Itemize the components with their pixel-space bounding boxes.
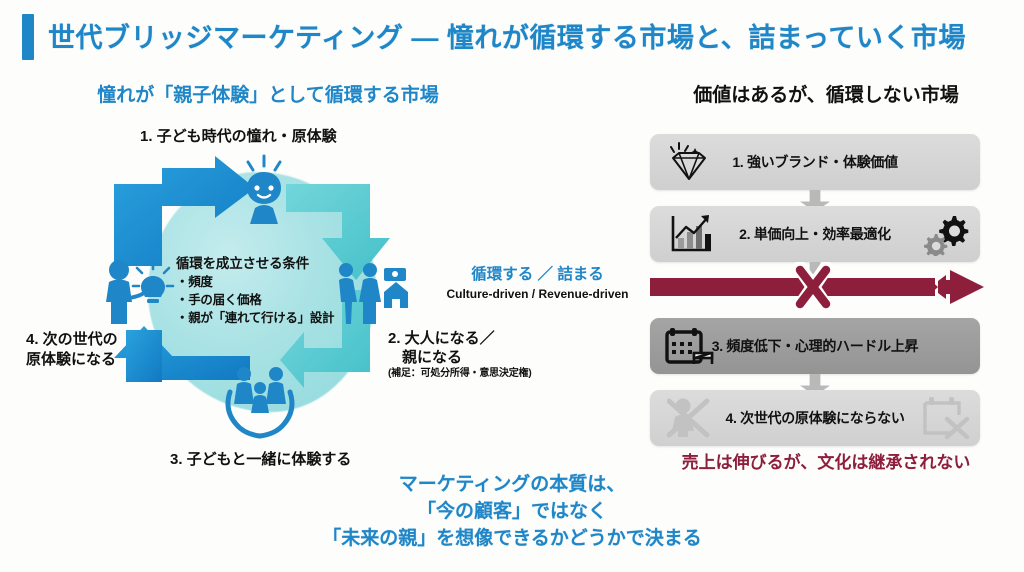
right-step-box-3[interactable]: 3. 頻度低下・心理的ハードル上昇 [650,318,980,374]
right-step-box-1[interactable]: 1. 強いブランド・体験価値 [650,134,980,190]
cycle-step-label-3: 3. 子どもと一緒に体験する [170,448,351,469]
right-step-box-4[interactable]: 4. 次世代の原体験にならない [650,390,980,446]
bottom-message-line-2: 「今の顧客」ではなく [212,499,812,526]
person-lightbulb-icon [106,260,173,324]
comparison-label-jp: 循環する ／ 詰まる [425,262,650,284]
cycle-break-bar [650,262,990,312]
right-step-box-2[interactable]: 2. 単価向上・効率最適化 [650,206,980,262]
cycle-step-label-2: 2. 大人になる／ 親になる (補足：可処分所得・意思決定権) [388,330,531,380]
right-step-label-1: 1. 強いブランド・体験価値 [650,152,980,172]
bottom-message: マーケティングの本質は、 「今の顧客」ではなく 「未来の親」を想像できるかどうか… [212,472,812,553]
cycle-step-label-4-line1: 4. 次の世代の [26,330,118,350]
bottom-message-line-1: マーケティングの本質は、 [212,472,812,499]
slide-canvas: 世代ブリッジマーケティング ― 憧れが循環する市場と、詰まっていく市場 憧れが「… [0,0,1024,572]
conditions-item: 親が「連れて行ける」設計 [176,310,356,328]
cycle-step-label-4-line2: 原体験になる [26,350,118,370]
cycle-step-label-1: 1. 子ども時代の憧れ・原体験 [140,125,337,146]
child-idea-icon [247,156,281,224]
bottom-message-line-3: 「未来の親」を想像できるかどうかで決まる [212,526,812,553]
conditions-item: 頻度 [176,274,356,292]
conditions-title: 循環を成立させる条件 [176,252,356,272]
title-accent-bar [22,14,34,60]
left-section-heading: 憧れが「親子体験」として循環する市場 [88,80,448,107]
comparison-label-en: Culture-driven / Revenue-driven [425,287,650,301]
right-conclusion: 売上は伸びるが、文化は継承されない [648,448,1004,473]
right-section-heading: 価値はあるが、循環しない市場 [648,80,1004,107]
conditions-item: 手の届く価格 [176,292,356,310]
cycle-step-label-2-line1: 2. 大人になる／ [388,330,531,349]
cycle-step-label-4: 4. 次の世代の 原体験になる [26,330,118,369]
comparison-label: 循環する ／ 詰まる Culture-driven / Revenue-driv… [425,262,650,301]
cycle-center-conditions: 循環を成立させる条件 頻度 手の届く価格 親が「連れて行ける」設計 [176,252,356,327]
gears-icon [922,212,970,256]
family-in-hands-icon [228,367,292,436]
right-step-label-3: 3. 頻度低下・心理的ハードル上昇 [650,336,980,356]
calendar-x-icon [920,394,972,442]
conditions-list: 頻度 手の届く価格 親が「連れて行ける」設計 [176,274,356,327]
cycle-step-label-2-line2: 親になる [388,349,531,368]
cycle-step-label-2-note: (補足：可処分所得・意思決定権) [388,368,531,381]
page-title: 世代ブリッジマーケティング ― 憧れが循環する市場と、詰まっていく市場 [48,16,966,55]
